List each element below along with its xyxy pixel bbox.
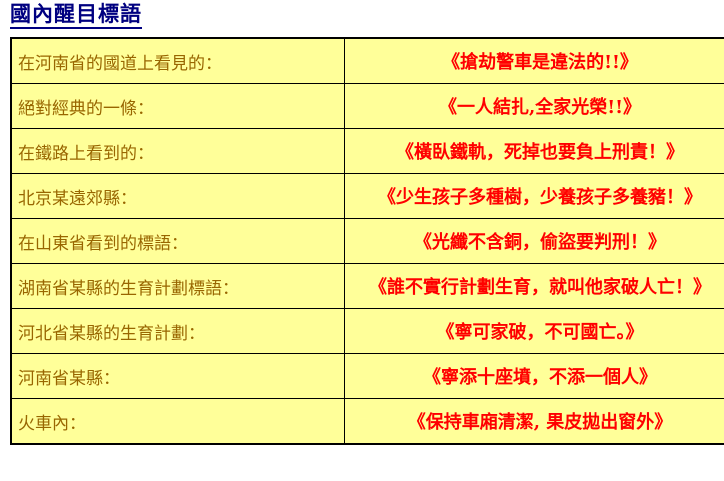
slogan-cell: 《保持車廂清潔, 果皮拋出窗外》 [345, 399, 724, 445]
table-row: 火車內： 《保持車廂清潔, 果皮拋出窗外》 [11, 399, 724, 445]
context-cell: 河北省某縣的生育計劃： [11, 309, 345, 354]
slogan-cell: 《光纖不含銅，偷盜要判刑！》 [345, 219, 724, 264]
context-cell: 在山東省看到的標語： [11, 219, 345, 264]
context-cell: 在河南省的國道上看見的： [11, 38, 345, 84]
context-cell: 河南省某縣： [11, 354, 345, 399]
slogan-cell: 《橫臥鐵軌，死掉也要負上刑責！》 [345, 129, 724, 174]
slogan-cell: 《搶劫警車是違法的!!》 [345, 38, 724, 84]
table-row: 在山東省看到的標語： 《光纖不含銅，偷盜要判刑！》 [11, 219, 724, 264]
slogan-cell: 《少生孩子多種樹，少養孩子多養豬！》 [345, 174, 724, 219]
slogan-table-body: 在河南省的國道上看見的： 《搶劫警車是違法的!!》 絕對經典的一條： 《一人結扎… [11, 38, 724, 444]
slogan-cell: 《寧添十座墳，不添一個人》 [345, 354, 724, 399]
context-cell: 火車內： [11, 399, 345, 445]
table-row: 在河南省的國道上看見的： 《搶劫警車是違法的!!》 [11, 38, 724, 84]
table-row: 北京某遠郊縣： 《少生孩子多種樹，少養孩子多養豬！》 [11, 174, 724, 219]
context-cell: 湖南省某縣的生育計劃標語： [11, 264, 345, 309]
table-row: 湖南省某縣的生育計劃標語： 《誰不實行計劃生育，就叫他家破人亡！》 [11, 264, 724, 309]
table-row: 在鐵路上看到的： 《橫臥鐵軌，死掉也要負上刑責！》 [11, 129, 724, 174]
slogan-cell: 《誰不實行計劃生育，就叫他家破人亡！》 [345, 264, 724, 309]
table-row: 河南省某縣： 《寧添十座墳，不添一個人》 [11, 354, 724, 399]
table-row: 河北省某縣的生育計劃： 《寧可家破，不可國亡。》 [11, 309, 724, 354]
page-root: 國內醒目標語 在河南省的國道上看見的： 《搶劫警車是違法的!!》 絕對經典的一條… [0, 0, 724, 481]
table-row: 絕對經典的一條： 《一人結扎,全家光榮!!》 [11, 84, 724, 129]
slogan-table-container: 在河南省的國道上看見的： 《搶劫警車是違法的!!》 絕對經典的一條： 《一人結扎… [10, 37, 710, 445]
context-cell: 在鐵路上看到的： [11, 129, 345, 174]
page-title: 國內醒目標語 [10, 2, 142, 29]
context-cell: 絕對經典的一條： [11, 84, 345, 129]
context-cell: 北京某遠郊縣： [11, 174, 345, 219]
slogan-table: 在河南省的國道上看見的： 《搶劫警車是違法的!!》 絕對經典的一條： 《一人結扎… [10, 37, 724, 445]
slogan-cell: 《一人結扎,全家光榮!!》 [345, 84, 724, 129]
slogan-cell: 《寧可家破，不可國亡。》 [345, 309, 724, 354]
